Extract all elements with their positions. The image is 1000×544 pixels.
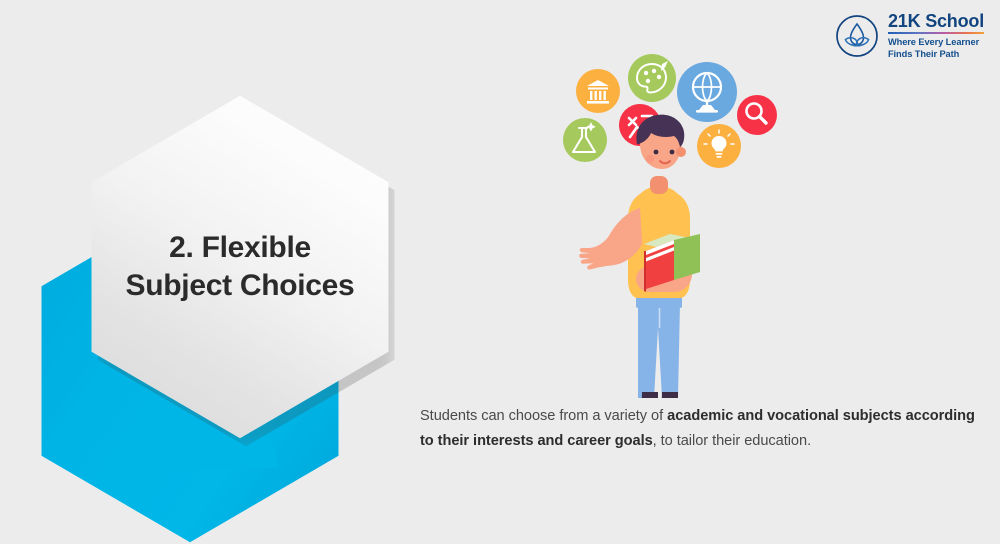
lotus-circle-emblem-icon [835, 14, 879, 58]
lightbulb-icon [697, 124, 741, 168]
palette-icon [628, 54, 676, 102]
logo-tagline-line2: Finds Their Path [888, 49, 984, 60]
logo-text-block: 21K School Where Every Learner Finds The… [888, 12, 984, 60]
description-part1: Students can choose from a variety of [420, 408, 667, 424]
slide-canvas: 21K School Where Every Learner Finds The… [0, 0, 1000, 500]
museum-icon [576, 69, 620, 113]
logo-title: 21K School [888, 12, 984, 31]
flask-icon [563, 118, 607, 162]
description-part2: , to tailor their education. [653, 433, 811, 449]
description-text: Students can choose from a variety of ac… [420, 404, 980, 454]
page-title: 2. Flexible Subject Choices [90, 94, 390, 440]
logo-tagline-line1: Where Every Learner [888, 37, 984, 48]
brand-logo: 21K School Where Every Learner Finds The… [835, 12, 984, 60]
student-illustration [540, 48, 800, 398]
hexagon-badge: 2. Flexible Subject Choices [28, 84, 428, 484]
globe-icon [677, 62, 737, 122]
logo-tagline: Where Every Learner Finds Their Path [888, 37, 984, 60]
magnifier-icon [737, 95, 777, 135]
logo-underline-bar [888, 32, 984, 35]
